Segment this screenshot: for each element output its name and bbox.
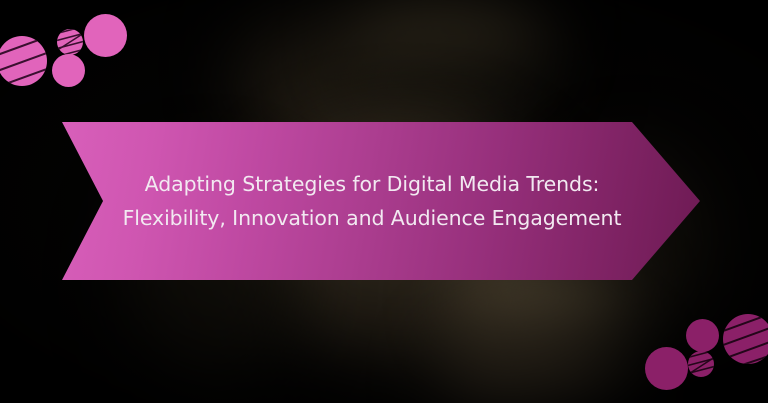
title-banner: Adapting Strategies for Digital Media Tr… — [62, 122, 700, 280]
title-line-1: Adapting Strategies for Digital Media Tr… — [145, 171, 600, 197]
decor-circle-small-striped — [57, 29, 83, 55]
decor-circle-medium-plain — [52, 54, 85, 87]
banner-text-block: Adapting Strategies for Digital Media Tr… — [62, 122, 700, 280]
decor-circle-small-striped — [688, 351, 714, 377]
decor-circle-large-plain — [645, 347, 688, 390]
title-line-2: Flexibility, Innovation and Audience Eng… — [123, 205, 622, 231]
decor-circle-large-striped — [0, 36, 47, 86]
decor-circle-large-striped — [723, 314, 768, 364]
decor-circle-medium-plain — [686, 319, 719, 352]
decor-circle-large-plain — [84, 14, 127, 57]
slide-canvas: Adapting Strategies for Digital Media Tr… — [0, 0, 768, 403]
